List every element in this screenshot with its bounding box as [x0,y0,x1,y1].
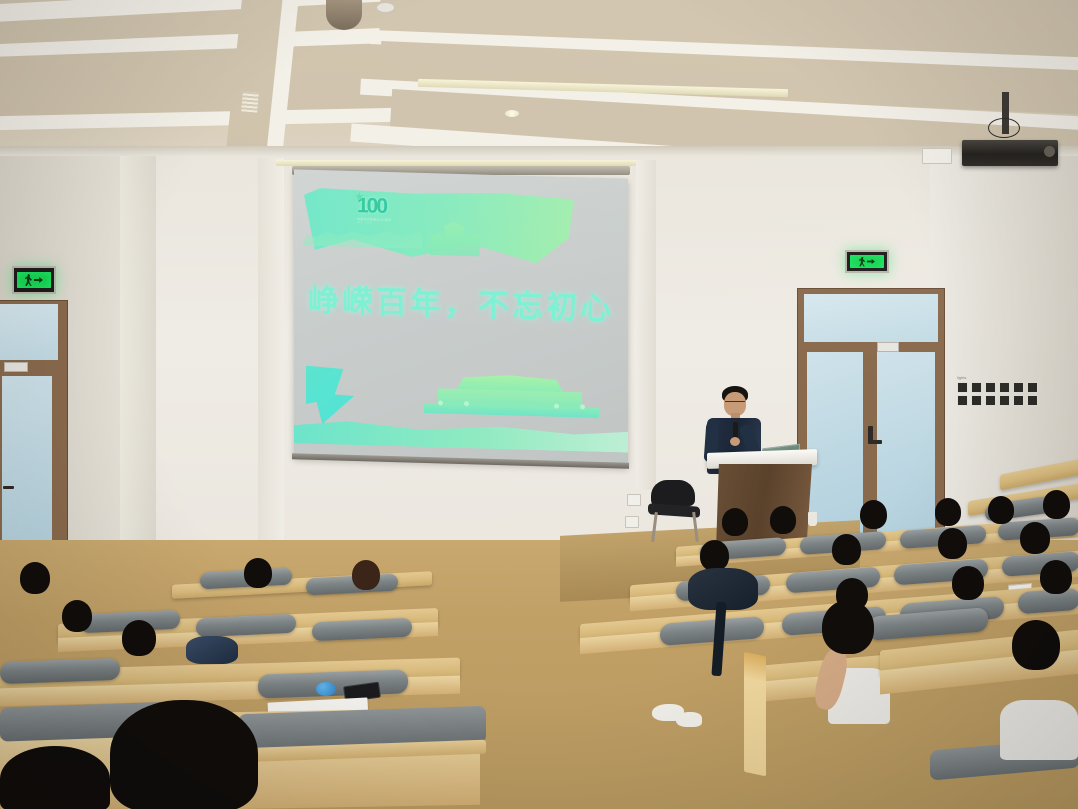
door-right-transom [804,294,938,342]
student-head [1020,522,1050,554]
presenter-hand [730,437,740,446]
student-shirt [1000,700,1078,760]
student-head [952,566,984,600]
student-head [700,540,729,571]
smoke-detector-icon [376,2,395,13]
wall-pillar-right [636,160,656,490]
exit-sign-right [845,250,889,273]
wall-ceiling-joint [0,146,1078,156]
backpack-small [186,636,238,664]
slide-title: 峥嵘百年，不忘初心 [308,275,628,329]
projector-lens-icon [1044,146,1055,157]
wall-outlet [625,516,639,528]
student-head [1043,490,1070,519]
student-head-foreground-left [110,700,258,809]
student-head [122,620,156,656]
slide-content: 100 中国共产党成立100周年 1921 - 2021 峥嵘百年，不忘初心 [294,169,628,466]
student-head [20,562,50,594]
wall-outlet [627,494,641,506]
exit-sign-left [12,266,56,294]
light-switch[interactable] [985,382,996,393]
ceiling-access-plate [922,148,952,164]
slide-flag-graphic [306,366,354,425]
door-right-handle-lever[interactable] [870,440,882,444]
lecture-hall-photo: 100 中国共产党成立100周年 1921 - 2021 峥嵘百年，不忘初心 [0,0,1078,809]
light-switch-panel[interactable]: lights [957,382,1038,406]
door-left-plate [4,362,28,372]
door-left-transom [0,304,58,360]
light-switch[interactable] [957,395,968,406]
light-switch[interactable] [1027,395,1038,406]
light-switch[interactable] [999,382,1010,393]
door-left-handle[interactable] [3,486,14,489]
student-head [988,496,1014,524]
student-head-foreground-edge [0,746,110,809]
student-head [770,506,796,534]
gate-lamp [464,401,469,406]
light-switch[interactable] [971,395,982,406]
student-head [722,508,748,536]
light-switch[interactable] [1013,382,1024,393]
door-right-glass-left [807,352,863,536]
exit-sign-right-glow [850,255,884,267]
door-right-plate [877,342,899,352]
student-head [832,534,861,565]
shoe [676,712,702,727]
slide-tiananmen-graphic [424,373,599,426]
exit-sign-left-glow [17,272,51,287]
light-switch[interactable] [999,395,1010,406]
running-man-icon [25,274,33,286]
projection-screen: 100 中国共产党成立100周年 1921 - 2021 峥嵘百年，不忘初心 [294,169,628,466]
gate-lamp [580,404,585,409]
student-head [935,498,961,526]
wall-pillar-center [258,158,284,558]
student-head-foreground [822,600,874,654]
seat-back [0,658,120,684]
projector-cables [988,118,1020,138]
glasses-icon [725,401,745,405]
desk-end-panel [744,652,766,777]
gate-lamp [438,400,443,405]
light-switch[interactable] [985,395,996,406]
student-head [1012,620,1060,670]
gate-lamp [554,404,559,409]
light-switch[interactable] [957,382,968,393]
blue-disc [316,682,336,696]
ceiling-vent [241,91,259,112]
light-switch[interactable] [971,382,982,393]
light-switch[interactable] [1027,382,1038,393]
exit-arrow-icon-2 [867,258,875,265]
student-head [352,560,380,590]
logo-number: 100 [357,195,415,218]
running-man-icon-2 [859,257,866,267]
exit-arrow-icon [34,276,43,284]
switch-panel-label: lights [957,375,966,380]
student-head [62,600,92,632]
light-switch[interactable] [1013,395,1024,406]
ceiling-downlight [505,110,519,117]
wall-pillar-left [120,152,156,572]
student-head [244,558,272,588]
student-head [938,528,967,559]
stage-chair-back [651,480,695,506]
student-head [860,500,887,529]
drink-cup [808,512,817,526]
student-head [1040,560,1072,594]
cpc-100-logo: 100 中国共产党成立100周年 1921 - 2021 [357,195,415,227]
